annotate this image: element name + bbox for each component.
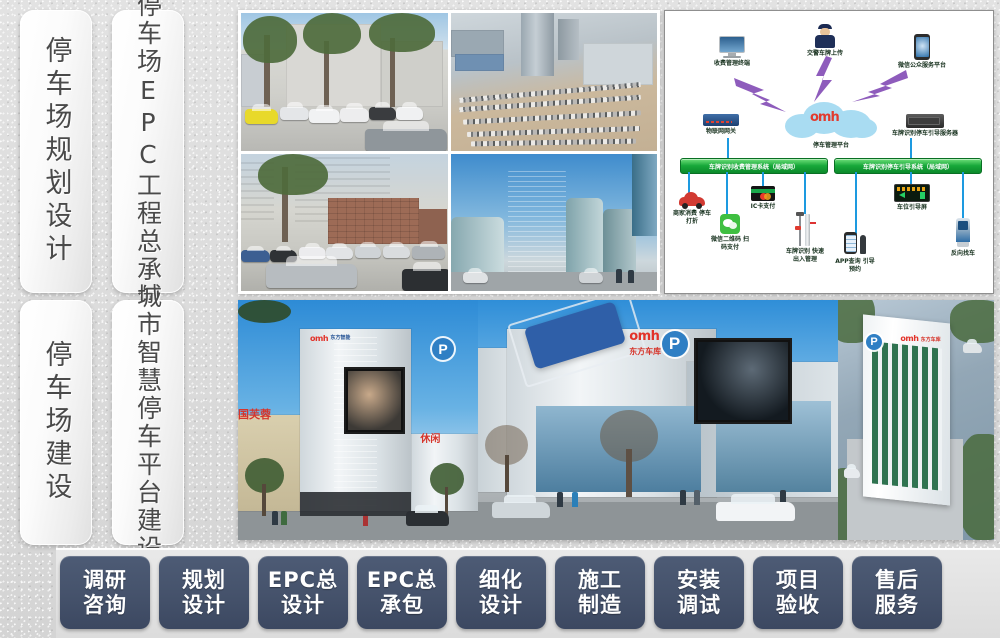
smartphone-icon <box>914 34 930 60</box>
process-bar: 调研咨询 规划设计 EPC总设计 EPC总承包 细化设计 施工制造 安装调试 项… <box>0 548 1000 638</box>
rendering-tower-garage: P omh 东方智能 国芙蓉 休闲 <box>238 300 478 540</box>
billboard <box>694 338 792 424</box>
leaf-wechat-qr-pay: 微信二维码 扫码支付 <box>708 214 752 251</box>
photo-aerial-parking <box>451 13 658 151</box>
omh-logo: omh <box>310 334 328 343</box>
left-shop-sign: 国芙蓉 <box>238 406 271 422</box>
process-step-installation-commissioning[interactable]: 安装调试 <box>654 556 744 629</box>
process-step-survey-consult[interactable]: 调研咨询 <box>60 556 150 629</box>
sidebar-item-parking-construction[interactable]: 停车场建设 <box>20 300 92 545</box>
process-step-detailed-design[interactable]: 细化设计 <box>456 556 546 629</box>
photo-surface-parking-lot <box>241 13 448 151</box>
node-wechat-public-service: 微信公众服务平台 <box>882 34 962 70</box>
sidebar-item-parking-planning-design[interactable]: 停车场规划设计 <box>20 10 92 293</box>
node-traffic-police-upload: 交警车牌上传 <box>790 24 860 58</box>
process-step-epc-contracting[interactable]: EPC总承包 <box>357 556 447 629</box>
sidebar-item-label: 停车场EPC工程总承包 <box>136 0 161 312</box>
node-parking-platform: 停车管理平台 <box>796 140 866 150</box>
leaf-ic-card-pay: IC卡支付 <box>742 186 784 211</box>
omh-logo: omh <box>629 329 659 344</box>
monitor-icon <box>719 36 745 58</box>
process-step-after-sales-service[interactable]: 售后服务 <box>852 556 942 629</box>
photo-brick-building-lot <box>241 154 448 292</box>
sidebar-item-label: 停车场建设 <box>43 340 70 505</box>
omh-cloud-logo: omh <box>810 110 839 125</box>
sidebar-item-smart-parking-platform[interactable]: 城市智慧停车平台建设 <box>112 300 184 545</box>
wire <box>804 172 806 214</box>
leaf-reverse-car-finding: 反向找车 <box>942 218 984 258</box>
sidebar-item-label: 停车场规划设计 <box>43 36 70 267</box>
system-architecture-diagram: omh 停车管理平台 收费管理终端 交警车牌上传 <box>664 10 994 294</box>
barrier-gate-icon <box>794 212 816 246</box>
system-box-toll-management: 车牌识别收费管理系统（局域网） <box>680 158 828 174</box>
process-step-planning-design[interactable]: 规划设计 <box>159 556 249 629</box>
bolt-connector-icon <box>730 74 800 118</box>
process-step-list: 调研咨询 规划设计 EPC总设计 EPC总承包 细化设计 施工制造 安装调试 项… <box>60 556 942 629</box>
wire <box>962 172 964 220</box>
red-car-icon <box>679 192 705 208</box>
bolt-connector-icon <box>810 54 836 106</box>
omh-sub-logo: 东方车库 <box>629 346 661 357</box>
photo-collage <box>238 10 660 294</box>
ic-card-icon <box>751 186 775 201</box>
sidebar-item-parking-epc-contracting[interactable]: 停车场EPC工程总承包 <box>112 10 184 293</box>
leaf-app-query: APP查询 引导 预约 <box>834 232 876 273</box>
wechat-icon <box>720 214 740 234</box>
leaf-merchant-discount: 商家消费 停车打折 <box>672 192 712 225</box>
slide-canvas: 停车场规划设计 停车场EPC工程总承包 停车场建设 城市智慧停车平台建设 <box>0 0 1000 638</box>
server-icon <box>906 114 944 128</box>
rendering-mall-garage: omh 东方车库 P <box>478 300 838 540</box>
wire <box>726 172 728 216</box>
photo-glass-office-tower <box>451 154 658 292</box>
leaf-plate-recognition-gate: 车牌识别 快速出入管理 <box>783 212 827 263</box>
kiosk-icon <box>956 218 970 248</box>
bolt-connector-icon <box>846 66 910 106</box>
process-step-project-acceptance[interactable]: 项目验收 <box>753 556 843 629</box>
process-step-construction-manufacturing[interactable]: 施工制造 <box>555 556 645 629</box>
billboard <box>344 367 406 433</box>
rendering-aerial-tower: P omh 东方车库 <box>838 300 994 540</box>
omh-sub-logo: 东方车库 <box>921 336 941 343</box>
rendering-gallery: P omh 东方智能 国芙蓉 休闲 omh 东方车库 <box>238 300 994 540</box>
leaf-led-guide-screen: 车位引导屏 <box>892 184 932 212</box>
omh-sub-logo: 东方智能 <box>330 334 350 341</box>
wire <box>855 172 857 234</box>
parking-p-mark: P <box>662 331 688 357</box>
omh-logo: omh <box>900 334 918 343</box>
led-guide-screen-icon <box>894 184 930 202</box>
traffic-police-icon <box>814 24 836 48</box>
right-shop-sign: 休闲 <box>420 430 440 445</box>
wire <box>910 138 912 158</box>
node-guidance-server: 车牌识别停车引导服务器 <box>875 114 975 138</box>
wire <box>688 172 690 194</box>
node-toll-management-terminal: 收费管理终端 <box>697 36 767 68</box>
parking-p-mark: P <box>866 334 882 350</box>
sidebar-item-label: 城市智慧停车平台建设 <box>136 283 161 563</box>
wire <box>727 138 729 158</box>
process-step-epc-design[interactable]: EPC总设计 <box>258 556 348 629</box>
app-phone-icon <box>844 232 866 256</box>
